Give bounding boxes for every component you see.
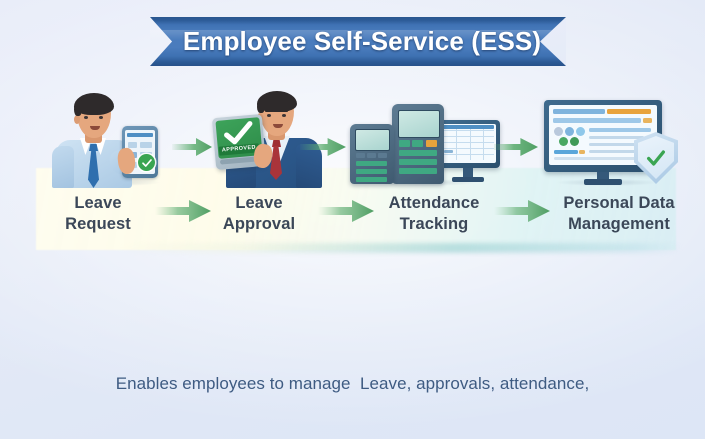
description-line-1: Enables employees to manage Leave, appro…: [0, 368, 705, 399]
employee-eye-left: [84, 116, 88, 119]
description-block: Enables employees to manage Leave, appro…: [0, 306, 705, 439]
shield-check-icon: [634, 132, 678, 184]
dashboard-dot: [554, 127, 563, 136]
dashboard-dot: [570, 137, 579, 146]
employee-left-arm: [52, 146, 74, 188]
manager-eye-left: [267, 114, 271, 117]
step-label-line2: Tracking: [370, 214, 498, 235]
terminal-key: [356, 177, 387, 182]
manager-tie-knot: [272, 140, 281, 147]
dashboard-bar: [643, 118, 652, 123]
dashboard-monitor-base: [584, 179, 622, 185]
page-title: Employee Self-Service (ESS): [150, 17, 566, 66]
employee-brow-right: [97, 112, 105, 114]
phone-row: [140, 142, 152, 148]
dashboard-dot: [559, 137, 568, 146]
terminal-key: [356, 169, 387, 174]
dashboard-progress: [554, 150, 578, 154]
terminal-key: [426, 140, 437, 147]
monitor-base: [452, 177, 484, 182]
step-label-line1: Attendance: [370, 193, 498, 214]
step-label-leave-request: Leave Request: [36, 193, 160, 235]
dashboard-dot: [565, 127, 574, 136]
terminal-key: [399, 159, 437, 165]
dashboard-bar: [553, 109, 605, 114]
employee-hair-side: [74, 100, 82, 116]
step-label-personal-data-management: Personal Data Management: [546, 193, 692, 235]
scene-leave-request: [52, 88, 180, 188]
terminal-key: [412, 140, 423, 147]
scene-attendance-tracking: [348, 88, 500, 188]
manager-hair-side: [257, 98, 265, 113]
step-label-leave-approval: Leave Approval: [196, 193, 322, 235]
manager-brow-right: [280, 110, 288, 112]
ess-infographic: Employee Self-Service (ESS): [0, 0, 705, 439]
terminal-key: [399, 140, 410, 147]
manager-brow-left: [265, 110, 273, 112]
step-label-line1: Leave: [36, 193, 160, 214]
shield-inner: [638, 136, 674, 179]
timesheet-gridline: [470, 126, 471, 160]
timesheet-gridline: [442, 148, 494, 149]
timesheet-header: [442, 125, 494, 129]
terminal-screen-center: [398, 110, 440, 138]
phone-row: [128, 142, 137, 148]
timesheet-gridline: [442, 136, 494, 137]
step-label-line2: Management: [546, 214, 692, 235]
dashboard-dot: [576, 127, 585, 136]
step-label-line2: Approval: [196, 214, 322, 235]
employee-eye-right: [99, 116, 103, 119]
step-label-line1: Personal Data: [546, 193, 692, 214]
employee-ear: [74, 115, 80, 124]
arrow-right-icon: [494, 200, 550, 222]
dashboard-line: [589, 136, 644, 139]
timesheet-cell: [444, 150, 453, 153]
terminal-key: [378, 153, 387, 158]
timesheet-gridline: [442, 142, 494, 143]
dashboard-bar: [553, 118, 641, 123]
dashboard-line: [589, 128, 651, 132]
employee-brow-left: [82, 112, 90, 114]
arrow-right-icon: [318, 200, 374, 222]
check-icon: [138, 154, 155, 171]
arrow-right-icon: [494, 138, 538, 156]
title-ribbon: Employee Self-Service (ESS): [150, 17, 566, 66]
timesheet-gridline: [442, 130, 494, 131]
terminal-key: [356, 161, 387, 166]
scene-personal-data-management: [534, 88, 680, 188]
timesheet-gridline: [483, 126, 484, 160]
arrow-right-icon: [172, 138, 212, 156]
employee-tie-knot: [89, 144, 98, 151]
terminal-key: [367, 153, 376, 158]
terminal-key: [399, 168, 437, 174]
phone-header-bar: [127, 133, 153, 137]
terminal-key: [356, 153, 365, 158]
timesheet-gridline: [456, 126, 457, 160]
step-label-line2: Request: [36, 214, 160, 235]
manager-eye-right: [282, 114, 286, 117]
step-label-attendance-tracking: Attendance Tracking: [370, 193, 498, 235]
timesheet-screen: [440, 124, 496, 163]
arrow-right-icon: [300, 138, 346, 156]
timesheet-gridline: [442, 154, 494, 155]
dashboard-line: [589, 150, 637, 153]
dashboard-progress-track: [579, 150, 585, 154]
step-label-line1: Leave: [196, 193, 322, 214]
illustration-band-edge: [120, 243, 680, 253]
terminal-screen-left: [355, 129, 390, 151]
terminal-key: [399, 150, 437, 156]
dashboard-bar: [607, 109, 651, 114]
